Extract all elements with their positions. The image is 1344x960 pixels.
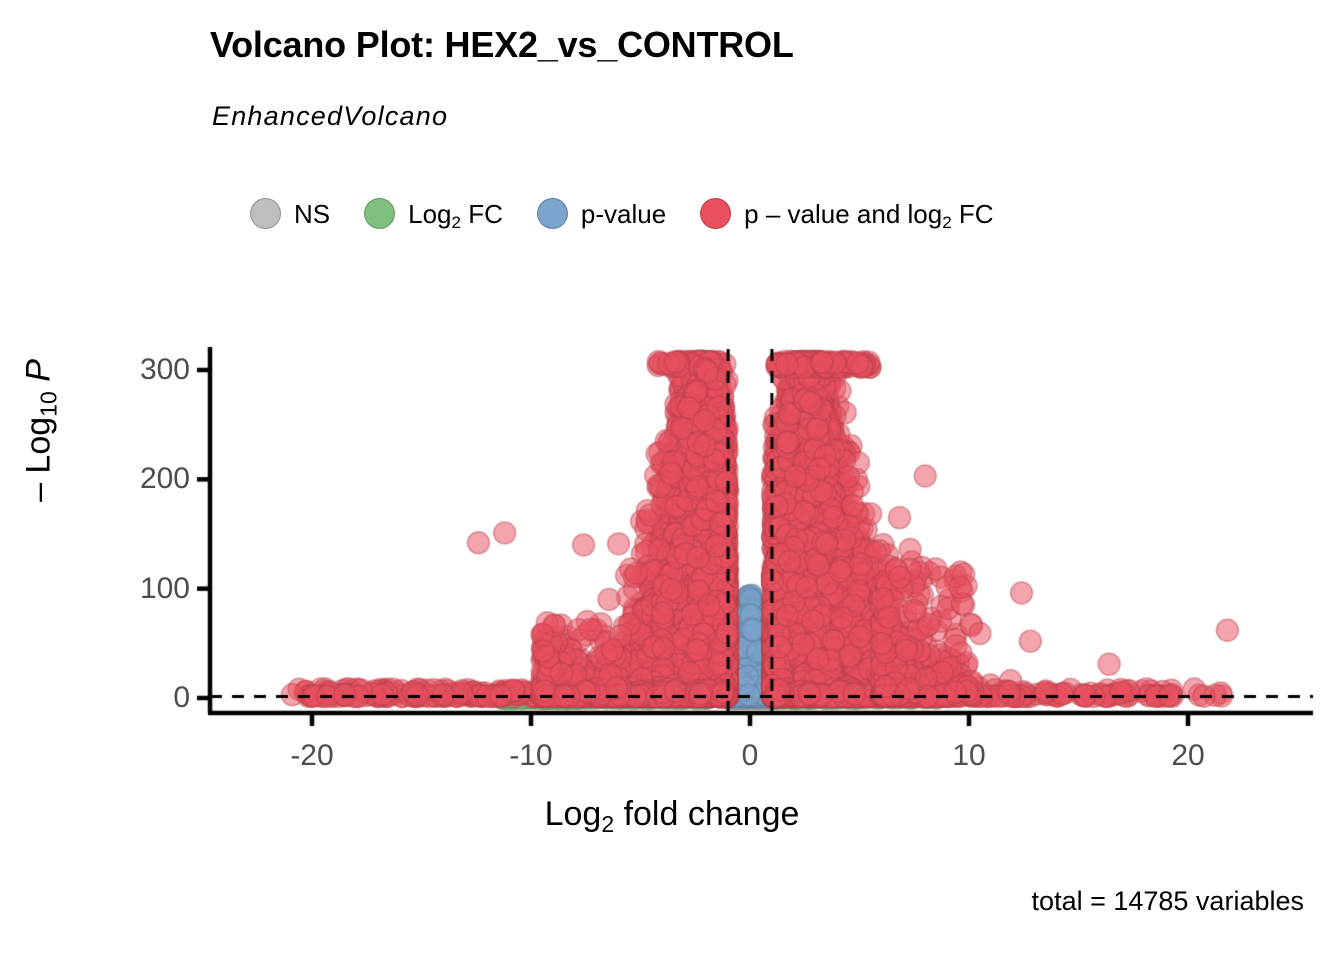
volcano-plot-figure: Volcano Plot: HEX2_vs_CONTROL EnhancedVo…: [0, 0, 1344, 960]
y-tick-label: 300: [82, 353, 190, 387]
x-tick-label: -20: [290, 739, 333, 773]
y-axis-title: – Log10 P: [20, 261, 59, 601]
plot-caption: total = 14785 variables: [1032, 886, 1304, 917]
x-axis-title: Log2 fold change: [0, 795, 1344, 834]
x-tick-label: -10: [509, 739, 552, 773]
y-tick-label: 100: [82, 572, 190, 606]
x-tick-label: 20: [1171, 739, 1204, 773]
y-tick-label: 200: [82, 462, 190, 496]
x-tick-label: 0: [742, 739, 759, 773]
x-tick-label: 10: [952, 739, 985, 773]
y-tick-label: 0: [82, 681, 190, 715]
